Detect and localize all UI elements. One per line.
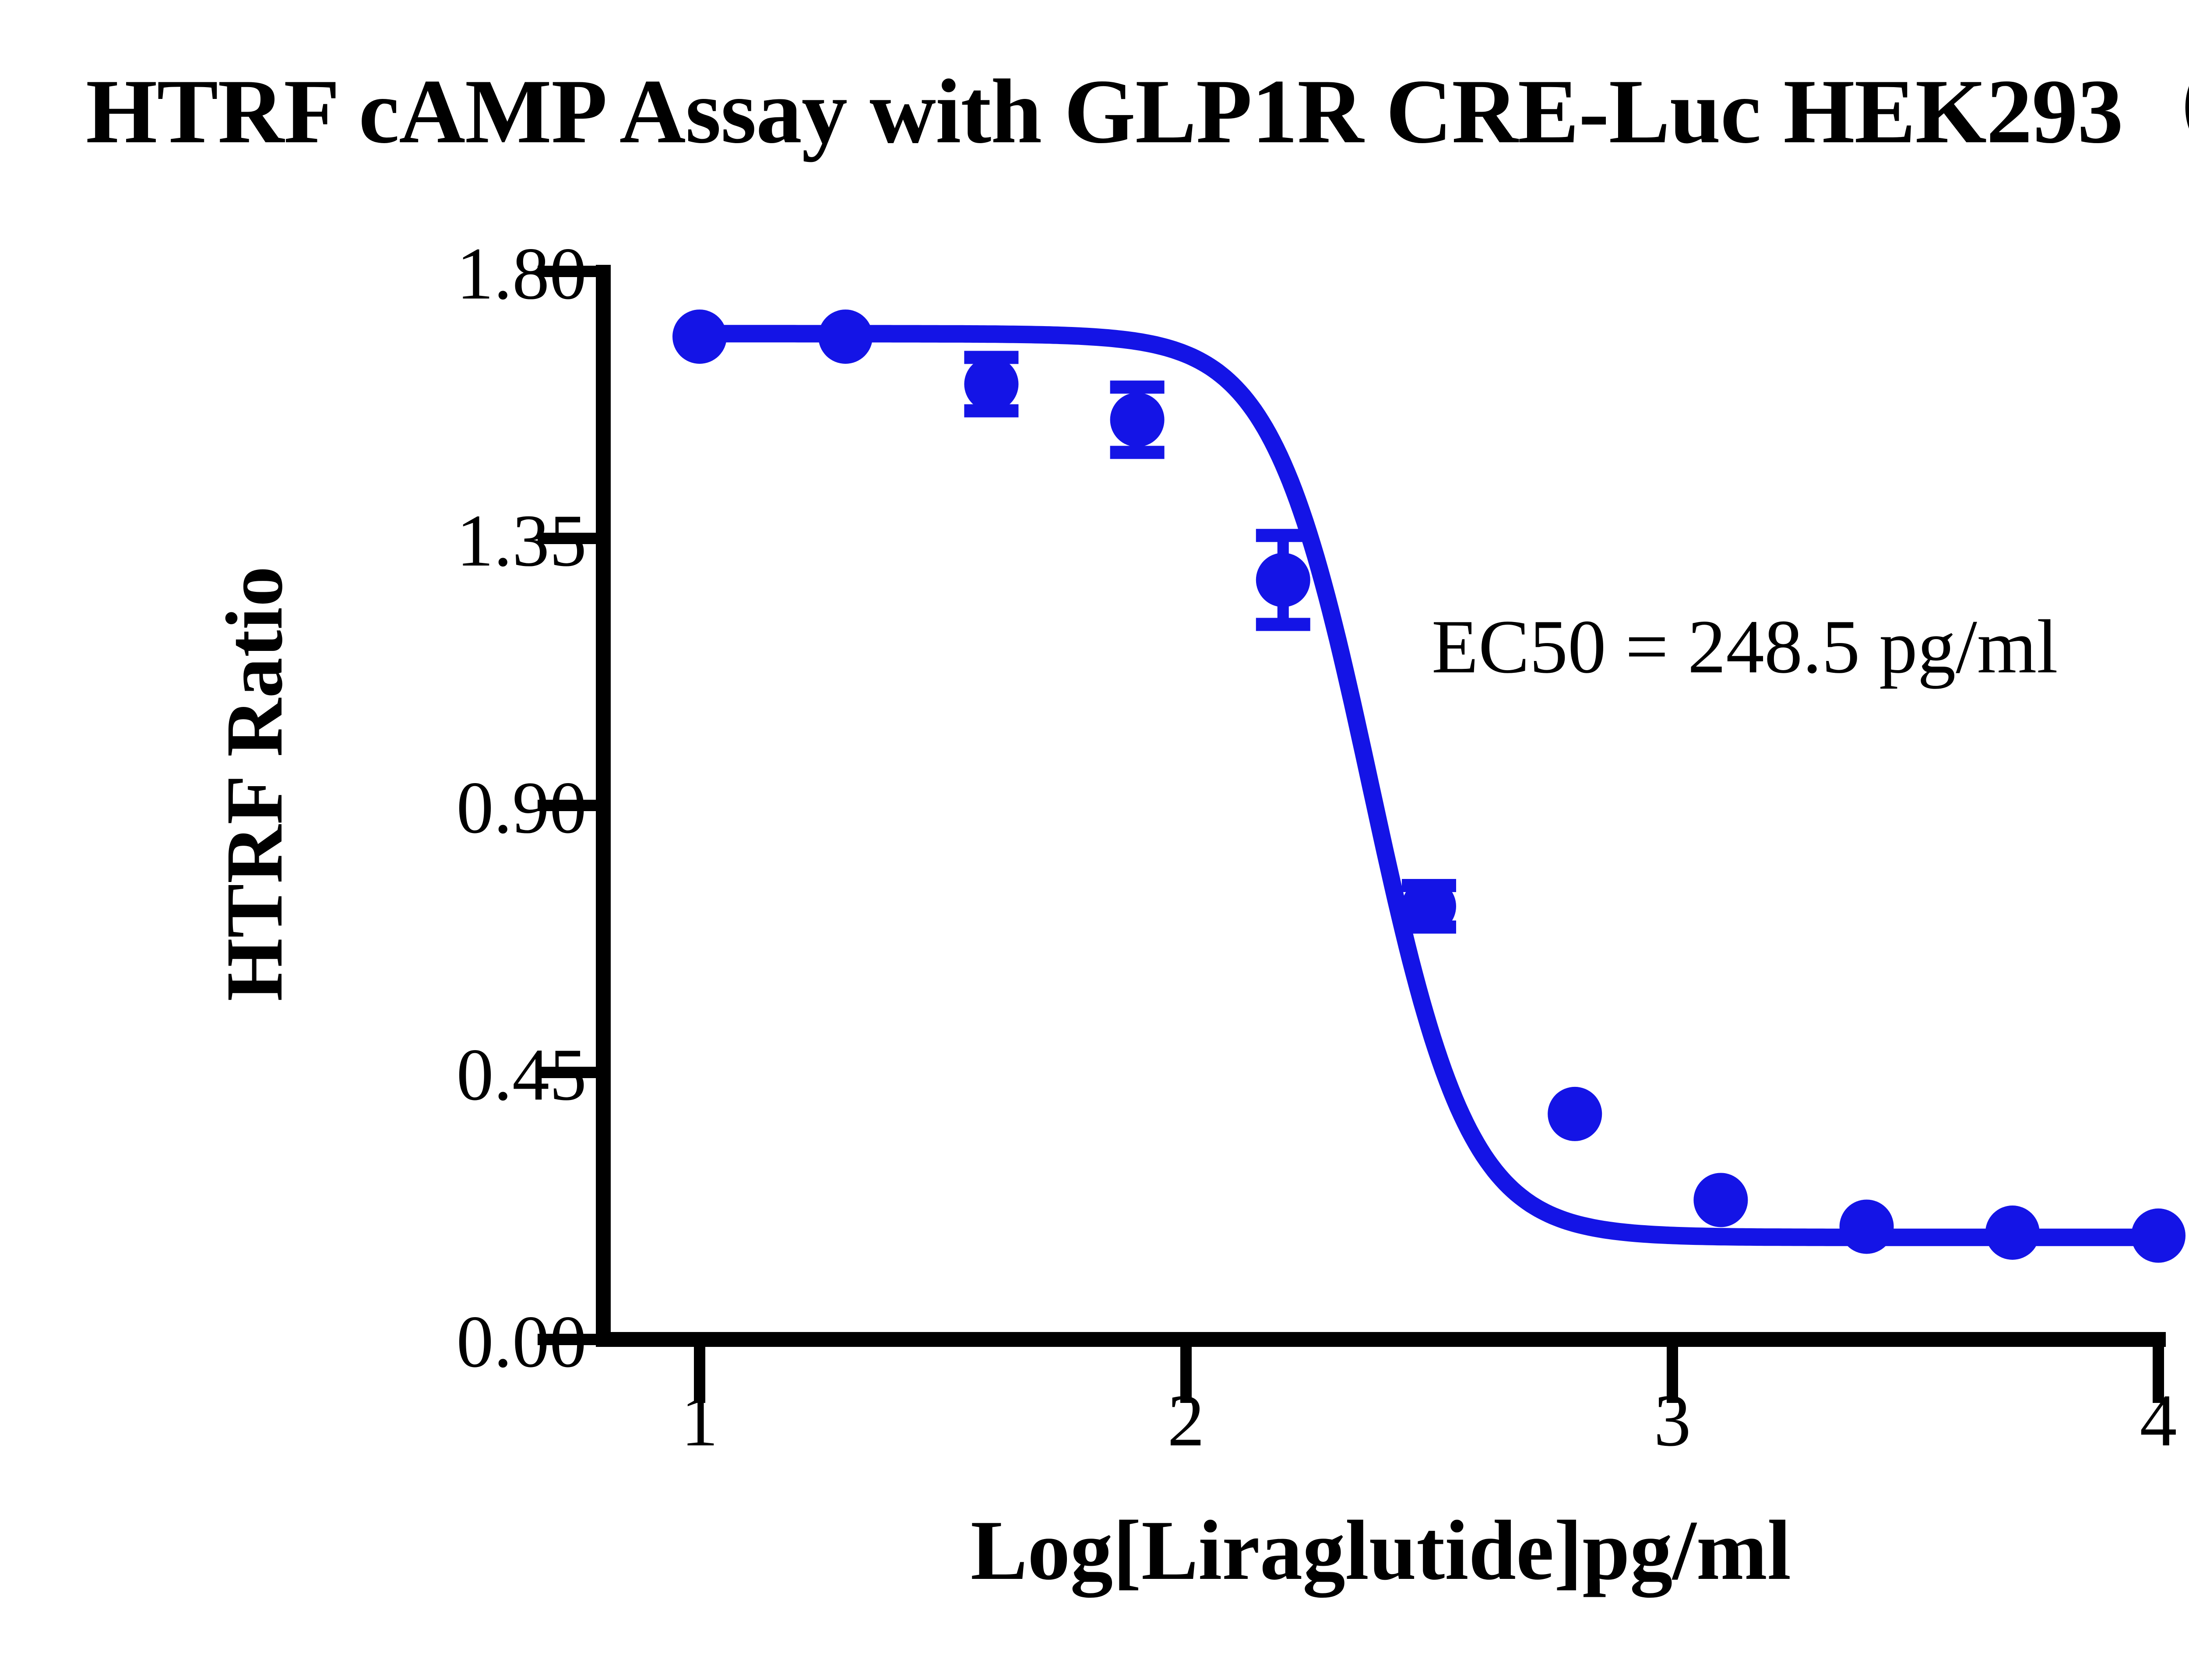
data-point [1256,553,1310,607]
data-point [2131,1209,2185,1263]
fit-curve [700,334,2158,1237]
data-point [818,309,873,364]
data-point [1693,1173,1748,1227]
chart-figure: HTRF cAMP Assay with GLP1R CRE-Luc HEK29… [0,0,2189,1680]
data-point [1840,1199,1894,1254]
plot-area [0,0,2189,1680]
fit-curve-path [700,334,2158,1237]
data-point [1985,1206,2040,1260]
data-point [1548,1087,1602,1141]
y-axis-ticks [538,271,603,1339]
data-point [964,357,1018,411]
data-point [1402,879,1456,933]
data-point-markers [672,309,2185,1263]
x-axis-ticks [700,1339,2158,1403]
data-point [1110,393,1165,447]
data-point [672,309,727,364]
